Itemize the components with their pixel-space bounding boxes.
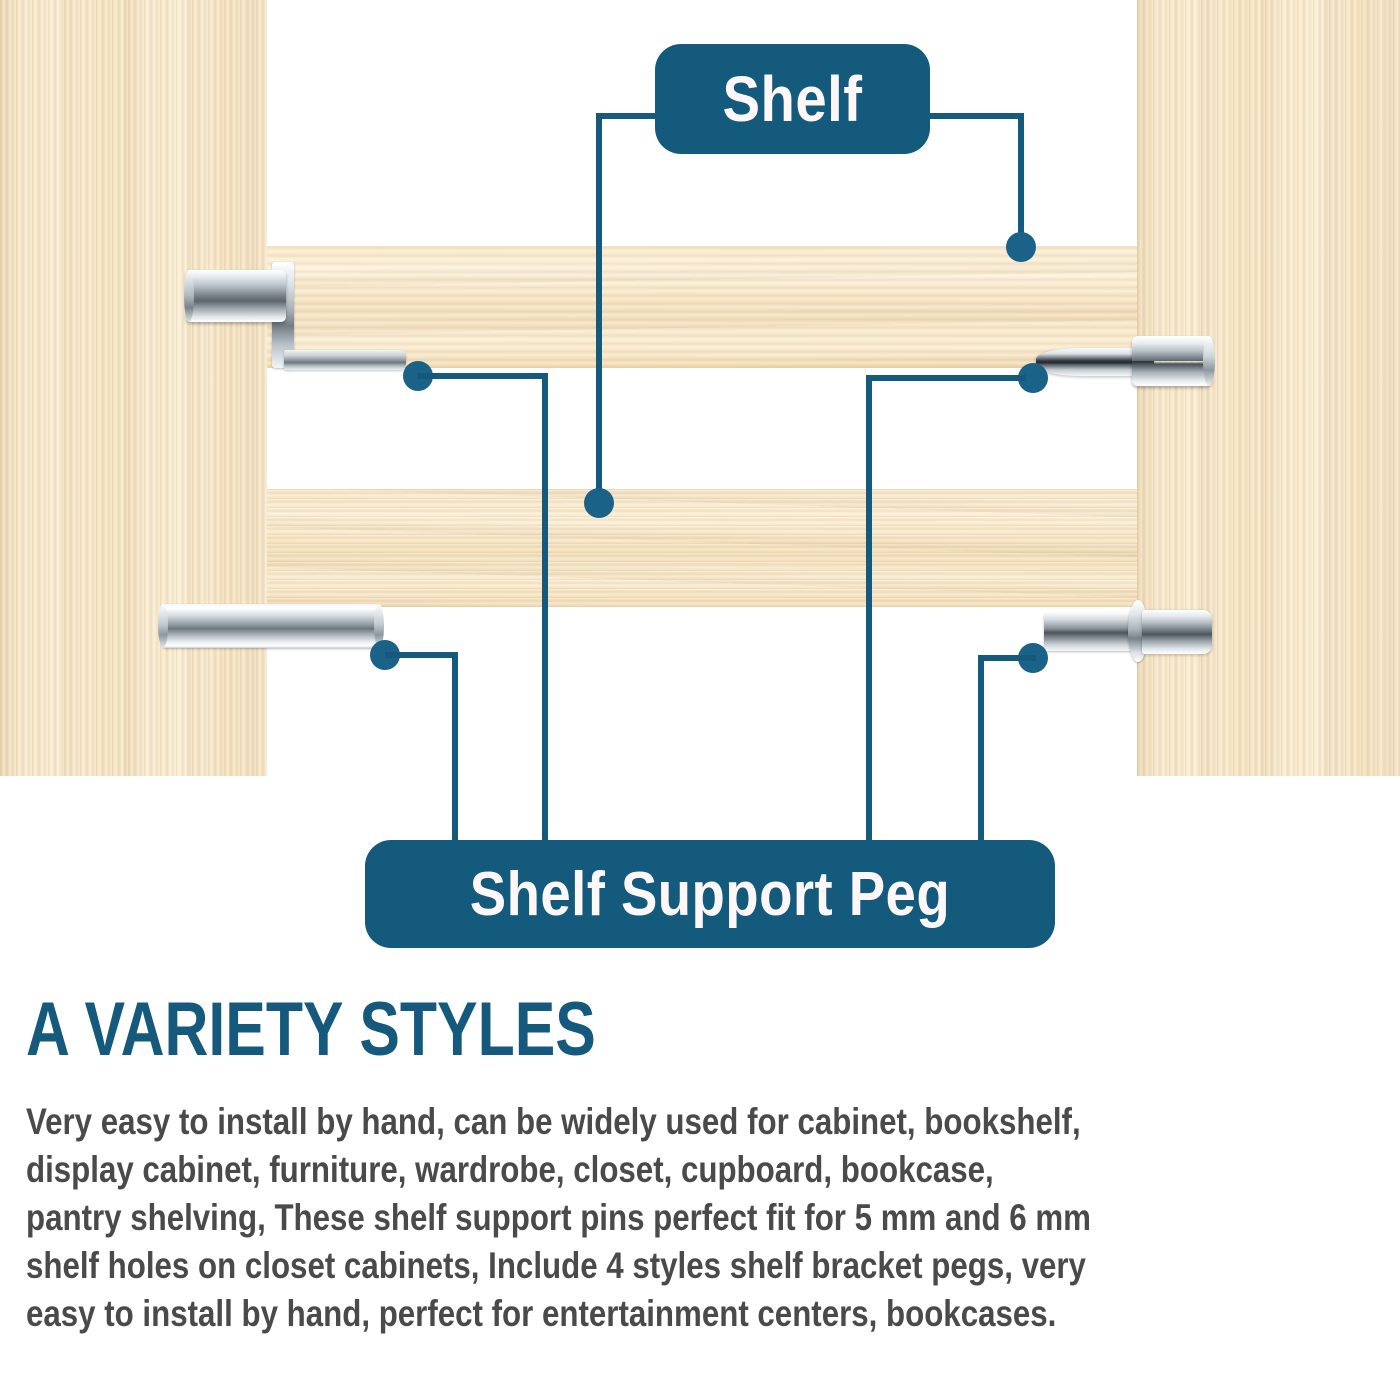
- shelf-connector-left-vertical: [596, 113, 602, 503]
- description-line-4: shelf holes on closet cabinets, Include …: [26, 1242, 1175, 1290]
- peg-connector-flange-vertical: [978, 655, 984, 848]
- shelf-marker-top-board: [1006, 232, 1036, 262]
- description-line-1: Very easy to install by hand, can be wid…: [26, 1098, 1175, 1146]
- page-headline-text: A VARIETY STYLES: [26, 986, 596, 1073]
- peg-callout-text: Shelf Support Peg: [470, 859, 950, 930]
- flanged-pin-peg: [1044, 600, 1212, 662]
- description-line-2: display cabinet, furniture, wardrobe, cl…: [26, 1146, 1175, 1194]
- page-headline: A VARIETY STYLES: [26, 986, 738, 1073]
- peg-connector-spoon-vertical: [866, 375, 872, 848]
- peg-connector-dowel-horizontal: [385, 652, 458, 658]
- shelf-callout-text: Shelf: [723, 62, 863, 136]
- spoon-peg: [1036, 336, 1212, 388]
- description-line-5: easy to install by hand, perfect for ent…: [26, 1290, 1175, 1338]
- shelf-callout-label: Shelf: [655, 44, 930, 154]
- description-line-3: pantry shelving, These shelf support pin…: [26, 1194, 1175, 1242]
- peg-connector-flange-horizontal: [978, 655, 1036, 661]
- peg-connector-dowel-vertical: [452, 652, 458, 848]
- peg-callout-label: Shelf Support Peg: [365, 840, 1055, 948]
- product-description: Very easy to install by hand, can be wid…: [26, 1098, 1386, 1338]
- peg-connector-lbracket-vertical: [542, 373, 548, 848]
- infographic-stage: Shelf Shelf Support Peg A VARIETY STYLES…: [0, 0, 1400, 1400]
- middle-shelf-board: [267, 489, 1137, 607]
- dowel-peg: [162, 604, 380, 648]
- l-bracket-peg: [186, 262, 406, 374]
- shelf-marker-middle-board: [584, 488, 614, 518]
- peg-connector-spoon-horizontal: [866, 375, 1026, 381]
- left-cabinet-panel: [0, 0, 267, 776]
- shelf-connector-right-horizontal: [928, 113, 1024, 119]
- peg-connector-lbracket-horizontal: [418, 373, 548, 379]
